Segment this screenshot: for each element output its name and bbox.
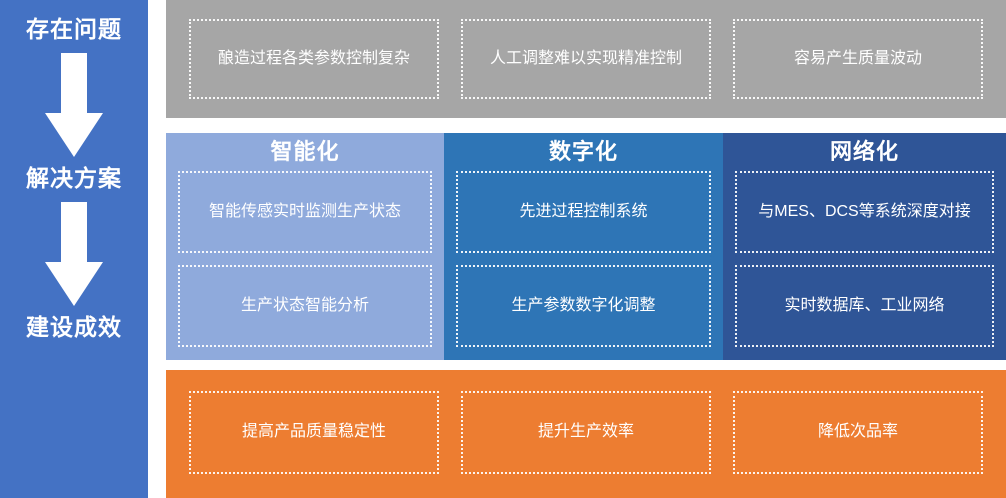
problem-cell: 人工调整难以实现精准控制 (450, 19, 722, 99)
problems-band: 酿造过程各类参数控制复杂 人工调整难以实现精准控制 容易产生质量波动 (166, 0, 1006, 118)
solutions-band: 智能化 智能传感实时监测生产状态 生产状态智能分析 数字化 先进过程控制系统 生… (166, 133, 1006, 360)
stage-label-solutions: 解决方案 (26, 167, 122, 190)
solution-box-1-1: 智能传感实时监测生产状态 (178, 171, 432, 253)
down-arrow-icon-2 (45, 202, 103, 306)
outcome-cell: 降低次品率 (722, 391, 994, 474)
down-arrow-icon-1 (45, 53, 103, 157)
outcome-box-3: 降低次品率 (733, 391, 983, 474)
diagram-canvas: 存在问题 解决方案 建设成效 酿造过程各类参数控制复杂 人工调整难以实现精准控制… (0, 0, 1006, 498)
problem-cell: 容易产生质量波动 (722, 19, 994, 99)
problem-cell: 酿造过程各类参数控制复杂 (178, 19, 450, 99)
solution-column-intelligent: 智能化 智能传感实时监测生产状态 生产状态智能分析 (166, 133, 444, 360)
stage-label-problems: 存在问题 (26, 18, 122, 41)
stage-rail: 存在问题 解决方案 建设成效 (0, 0, 148, 498)
solution-box-3-2: 实时数据库、工业网络 (735, 265, 994, 347)
arrow-head (45, 113, 103, 157)
outcome-cell: 提高产品质量稳定性 (178, 391, 450, 474)
arrow-head (45, 262, 103, 306)
stage-label-outcomes: 建设成效 (26, 316, 122, 339)
arrow-shaft (61, 53, 87, 115)
solution-box-3-1: 与MES、DCS等系统深度对接 (735, 171, 994, 253)
outcome-cell: 提升生产效率 (450, 391, 722, 474)
content-area: 酿造过程各类参数控制复杂 人工调整难以实现精准控制 容易产生质量波动 智能化 智… (166, 0, 1006, 498)
solution-box-1-2: 生产状态智能分析 (178, 265, 432, 347)
solution-column-title: 网络化 (830, 139, 899, 165)
problem-box-3: 容易产生质量波动 (733, 19, 983, 99)
outcome-box-1: 提高产品质量稳定性 (189, 391, 439, 474)
arrow-shaft (61, 202, 87, 264)
solution-box-2-2: 生产参数数字化调整 (456, 265, 711, 347)
problem-box-1: 酿造过程各类参数控制复杂 (189, 19, 439, 99)
outcome-box-2: 提升生产效率 (461, 391, 711, 474)
solution-column-networked: 网络化 与MES、DCS等系统深度对接 实时数据库、工业网络 (723, 133, 1006, 360)
solution-column-digital: 数字化 先进过程控制系统 生产参数数字化调整 (444, 133, 723, 360)
solution-box-2-1: 先进过程控制系统 (456, 171, 711, 253)
outcomes-band: 提高产品质量稳定性 提升生产效率 降低次品率 (166, 370, 1006, 498)
solution-column-title: 智能化 (270, 139, 339, 165)
solution-column-title: 数字化 (549, 139, 618, 165)
problem-box-2: 人工调整难以实现精准控制 (461, 19, 711, 99)
